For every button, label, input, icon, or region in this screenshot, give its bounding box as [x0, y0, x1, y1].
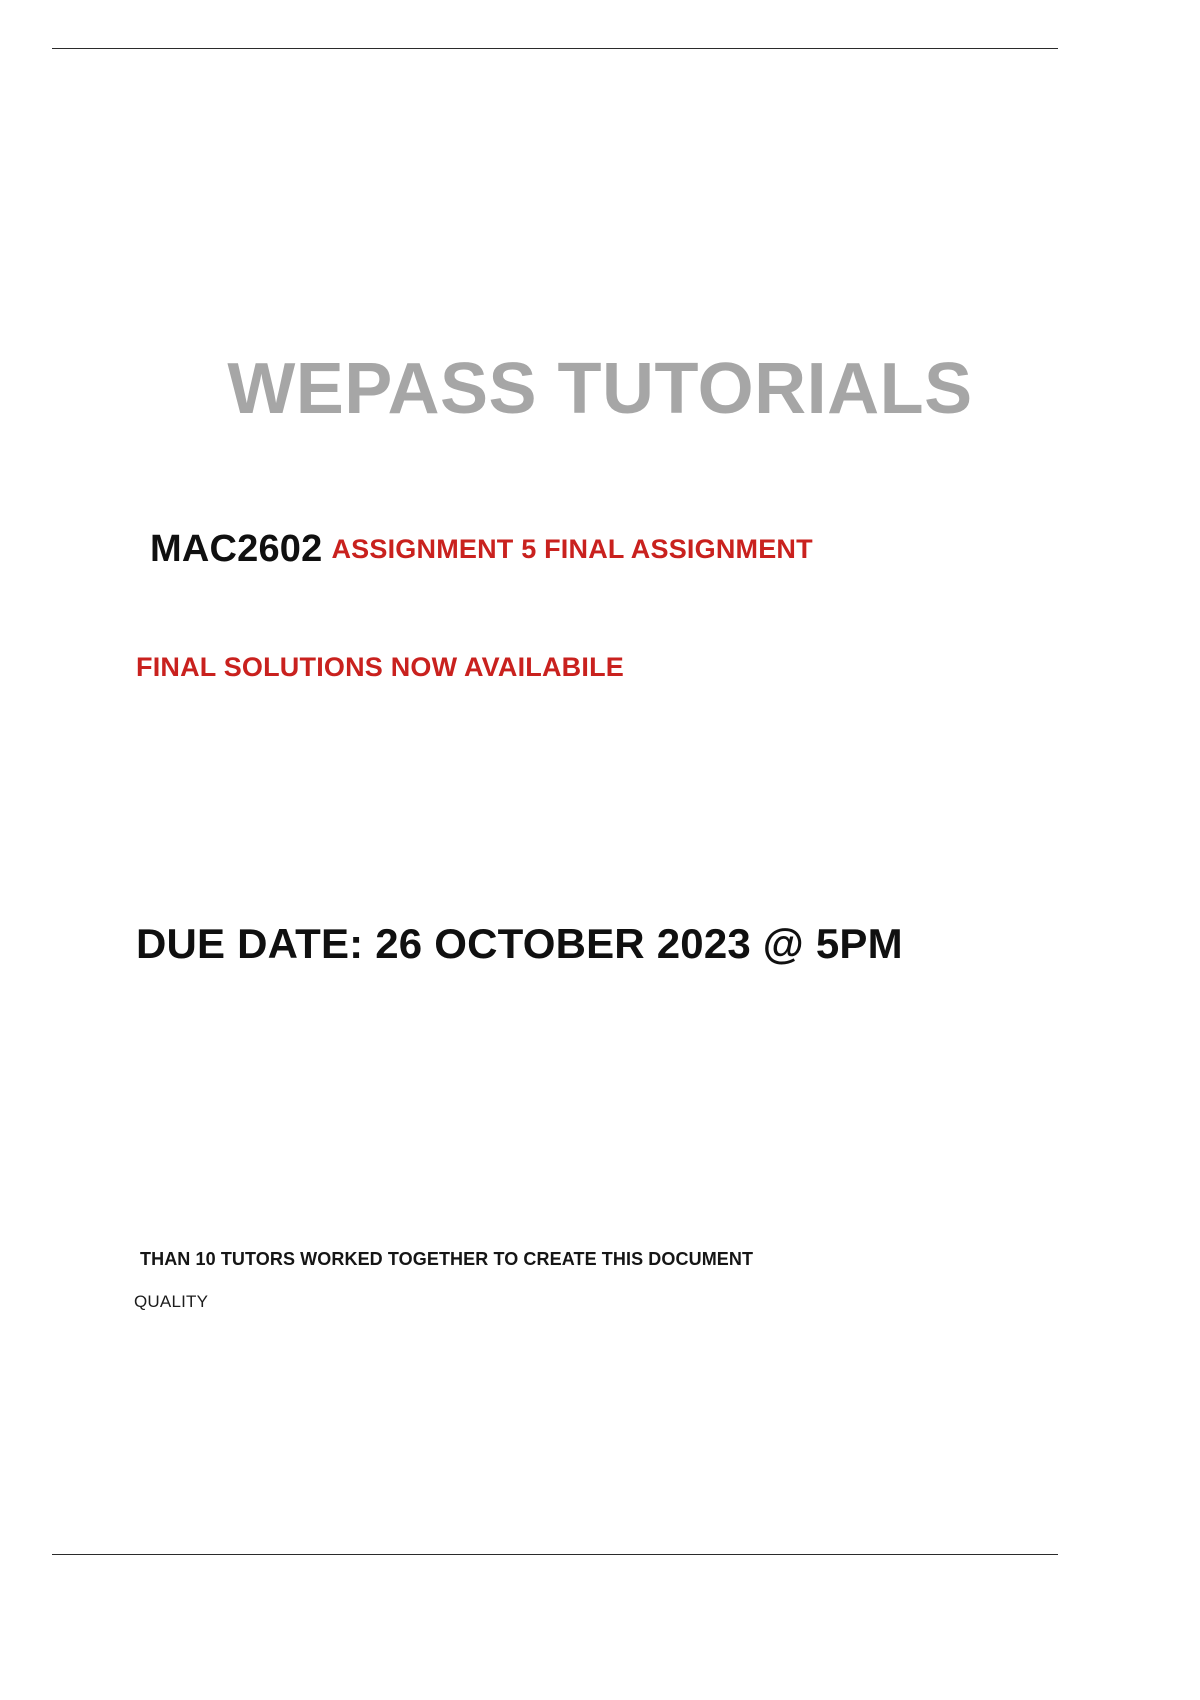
- assignment-label: ASSIGNMENT 5 FINAL ASSIGNMENT: [331, 534, 812, 564]
- document-content: WEPASS TUTORIALS MAC2602ASSIGNMENT 5 FIN…: [0, 0, 1200, 1700]
- course-code: MAC2602: [150, 528, 322, 570]
- tutors-note: THAN 10 TUTORS WORKED TOGETHER TO CREATE…: [140, 1249, 753, 1270]
- course-heading-line: MAC2602ASSIGNMENT 5 FINAL ASSIGNMENT: [150, 528, 813, 571]
- document-page: WEPASS TUTORIALS MAC2602ASSIGNMENT 5 FIN…: [0, 0, 1200, 1700]
- due-date-text: DUE DATE: 26 OCTOBER 2023 @ 5PM: [136, 920, 903, 968]
- quality-note: QUALITY: [134, 1292, 208, 1312]
- page-bottom-divider: [52, 1554, 1058, 1555]
- solutions-availability-notice: FINAL SOLUTIONS NOW AVAILABILE: [136, 652, 624, 683]
- brand-title: WEPASS TUTORIALS: [0, 352, 1200, 428]
